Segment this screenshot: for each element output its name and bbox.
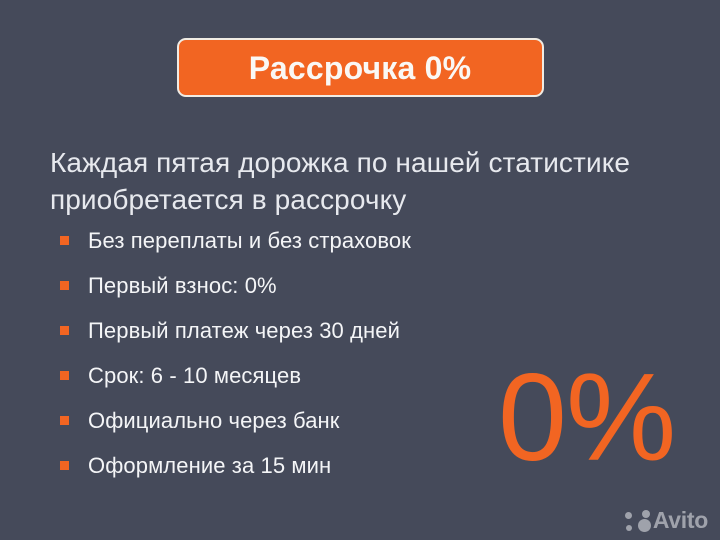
list-item-label: Официально через банк	[88, 410, 340, 432]
bullet-square-icon	[60, 281, 69, 290]
list-item-label: Без переплаты и без страховок	[88, 230, 411, 252]
bullet-square-icon	[60, 236, 69, 245]
bullet-square-icon	[60, 326, 69, 335]
list-item: Без переплаты и без страховок	[60, 218, 530, 263]
list-item: Оформление за 15 мин	[60, 443, 530, 488]
bullet-square-icon	[60, 371, 69, 380]
list-item: Первый платеж через 30 дней	[60, 308, 530, 353]
list-item: Срок: 6 - 10 месяцев	[60, 353, 530, 398]
feature-list: Без переплаты и без страховок Первый взн…	[60, 218, 530, 488]
page-title: Каждая пятая дорожка по нашей статистике…	[50, 145, 680, 219]
avito-wordmark: Avito	[653, 509, 708, 532]
list-item: Первый взнос: 0%	[60, 263, 530, 308]
list-item-label: Оформление за 15 мин	[88, 455, 331, 477]
installment-badge: Рассрочка 0%	[177, 38, 544, 97]
list-item-label: Срок: 6 - 10 месяцев	[88, 365, 301, 387]
promo-card: Рассрочка 0% Каждая пятая дорожка по наш…	[0, 0, 720, 540]
badge-row: Рассрочка 0%	[0, 38, 720, 97]
bullet-square-icon	[60, 461, 69, 470]
avito-watermark: Avito	[625, 509, 708, 532]
list-item-label: Первый взнос: 0%	[88, 275, 277, 297]
installment-badge-label: Рассрочка 0%	[249, 52, 472, 84]
zero-percent-watermark: 0%	[498, 356, 675, 480]
avito-logo-icon	[625, 510, 651, 532]
bullet-square-icon	[60, 416, 69, 425]
list-item-label: Первый платеж через 30 дней	[88, 320, 400, 342]
list-item: Официально через банк	[60, 398, 530, 443]
